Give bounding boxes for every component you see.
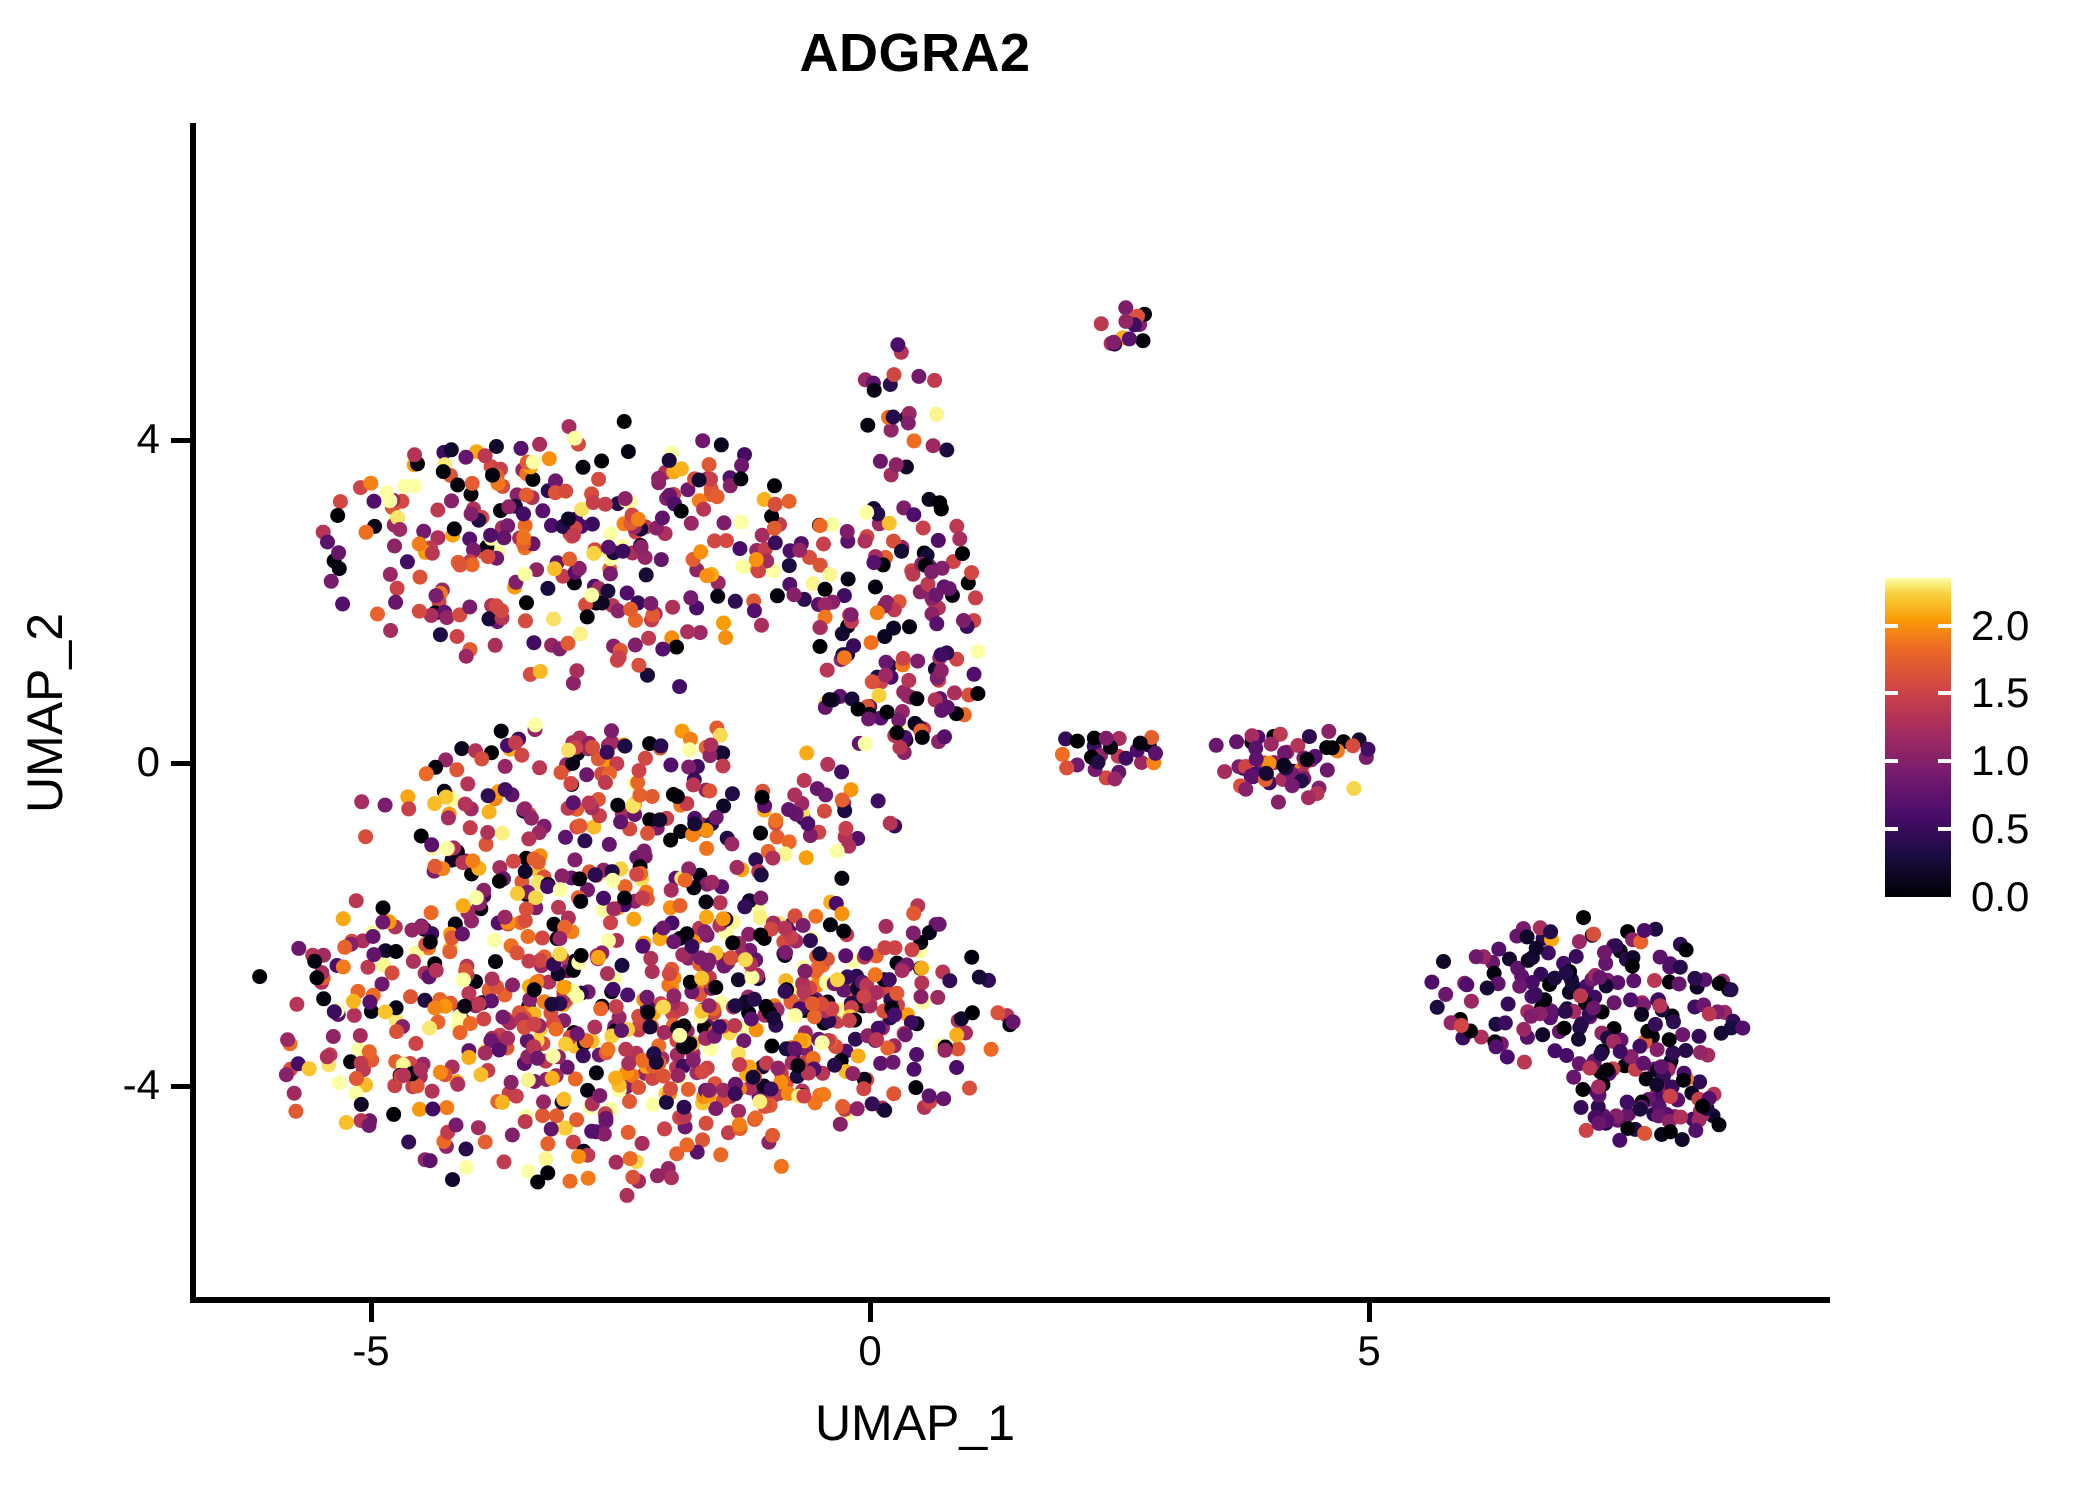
colorbar-tickmark (1938, 624, 1951, 628)
x-axis-ticklabel-0: 0 (810, 1330, 930, 1372)
x-axis-tick--5 (369, 1303, 374, 1322)
colorbar-tickmark (1885, 624, 1898, 628)
colorbar-ticklabel: 0.5 (1971, 808, 2029, 850)
scatter-points-layer (194, 125, 1830, 1300)
page-title: ADGRA2 (0, 26, 1830, 80)
y-axis-tick--4 (171, 1084, 190, 1089)
x-axis-tick-5 (1367, 1303, 1372, 1322)
colorbar-tickmark (1938, 759, 1951, 763)
y-axis-line (190, 123, 196, 1303)
y-axis-tick-0 (171, 761, 190, 766)
colorbar-ticklabel: 0.0 (1971, 876, 2029, 918)
colorbar-tickmark (1885, 827, 1898, 831)
y-axis-title: UMAP_2 (20, 393, 70, 1033)
scatter-plot-panel[interactable] (194, 125, 1830, 1300)
x-axis-ticklabel-5: 5 (1309, 1330, 1429, 1372)
colorbar-tickmark (1938, 691, 1951, 695)
colorbar-tickmark (1885, 691, 1898, 695)
colorbar-tickmark (1938, 827, 1951, 831)
x-axis-title: UMAP_1 (0, 1398, 1830, 1448)
colorbar-tickmark (1885, 759, 1898, 763)
colorbar-legend[interactable]: 2.01.51.00.50.0 (1885, 578, 1951, 897)
colorbar-ticklabel: 1.0 (1971, 740, 2029, 782)
colorbar-ticklabel: 1.5 (1971, 672, 2029, 714)
colorbar-gradient (1885, 578, 1951, 897)
y-axis-tick-4 (171, 438, 190, 443)
y-axis-ticklabel--4: -4 (0, 1064, 160, 1106)
x-axis-line (191, 1297, 1830, 1303)
colorbar-ticklabel: 2.0 (1971, 605, 2029, 647)
x-axis-ticklabel--5: -5 (311, 1330, 431, 1372)
figure-canvas: ADGRA2 4 0 -4 -5 0 5 UMAP_1 UMAP_2 2.01.… (0, 0, 2100, 1500)
x-axis-tick-0 (868, 1303, 873, 1322)
